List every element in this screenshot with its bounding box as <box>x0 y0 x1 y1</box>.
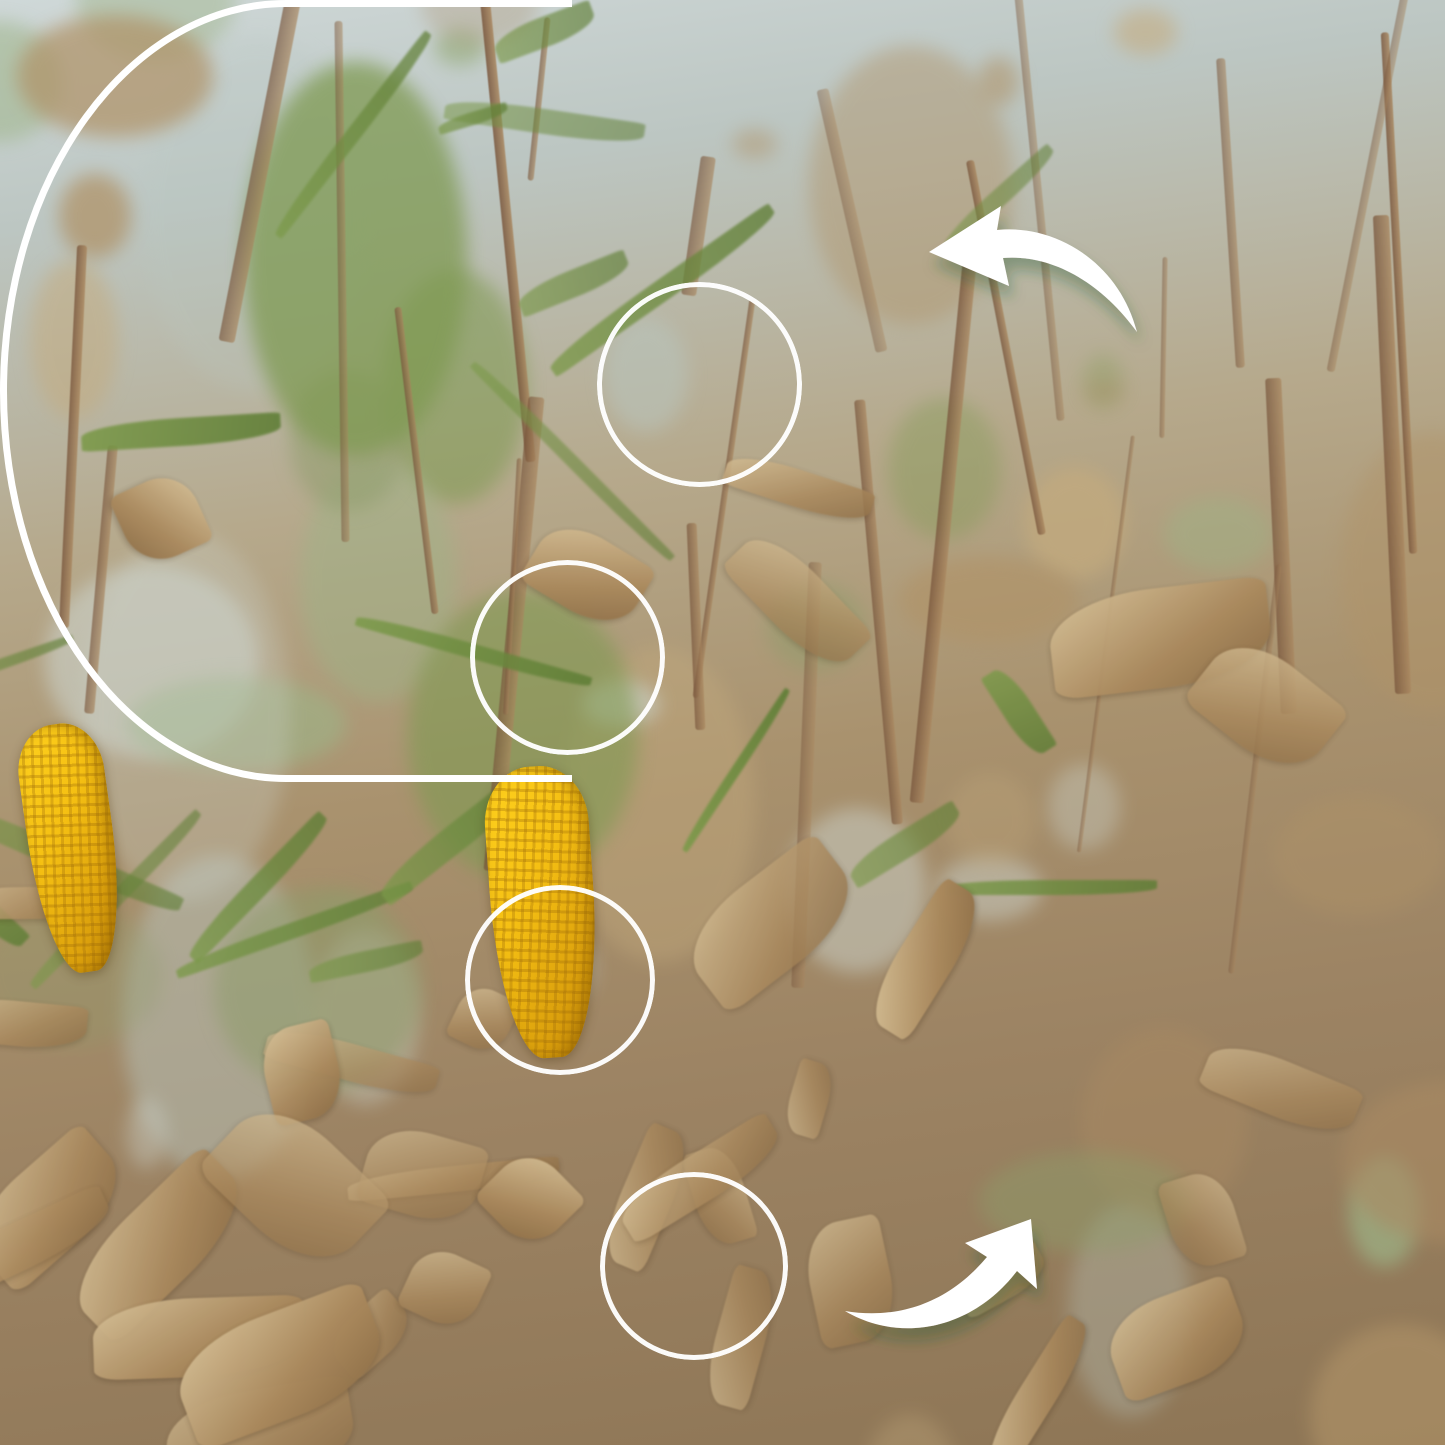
circle-rim <box>597 282 802 487</box>
polymer-pellets-image <box>597 282 802 487</box>
arrow-bottom-right-icon <box>835 1215 1065 1355</box>
seedling-image <box>600 1172 788 1360</box>
circle-rim <box>600 1172 788 1360</box>
infographic-canvas: Biodergradation Circle 1 Corn and Other … <box>0 0 1445 1445</box>
soil-hands-image <box>465 885 655 1075</box>
arrow-top-left-icon <box>905 200 1145 350</box>
circle-rim <box>465 885 655 1075</box>
compost-bag-image: GreFusion Compostable Bag <box>470 560 665 755</box>
circle-rim <box>470 560 665 755</box>
